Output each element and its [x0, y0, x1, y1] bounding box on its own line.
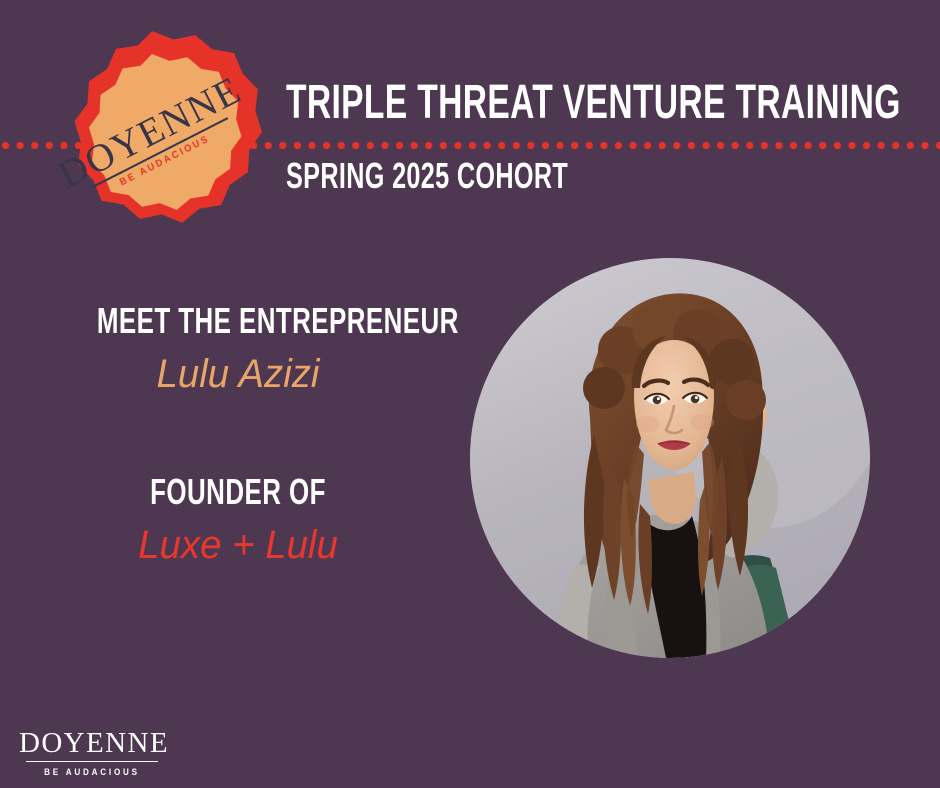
footer-underline — [26, 761, 158, 762]
cohort-subtitle: SPRING 2025 COHORT — [286, 158, 568, 194]
entrepreneur-label: MEET THE ENTREPRENEUR — [97, 303, 379, 339]
entrepreneur-portrait — [470, 258, 870, 658]
company-label: FOUNDER OF — [97, 474, 379, 510]
doyenne-seal-badge: DOYENNE BE AUDACIOUS — [36, 25, 268, 257]
poster-canvas: DOYENNE BE AUDACIOUS TRIPLE THREAT VENTU… — [0, 0, 940, 788]
entrepreneur-name: Lulu Azizi — [50, 353, 426, 395]
entrepreneur-block: MEET THE ENTREPRENEUR Lulu Azizi — [42, 303, 434, 395]
program-title: TRIPLE THREAT VENTURE TRAINING — [286, 79, 901, 127]
company-block: FOUNDER OF Luxe + Lulu — [42, 474, 434, 566]
footer-tagline: BE AUDACIOUS — [26, 767, 157, 777]
footer-doyenne-logo: DOYENNE BE AUDACIOUS — [19, 729, 165, 777]
footer-wordmark: DOYENNE — [19, 729, 165, 758]
company-name: Luxe + Lulu — [50, 524, 426, 566]
portrait-illustration — [470, 258, 870, 658]
